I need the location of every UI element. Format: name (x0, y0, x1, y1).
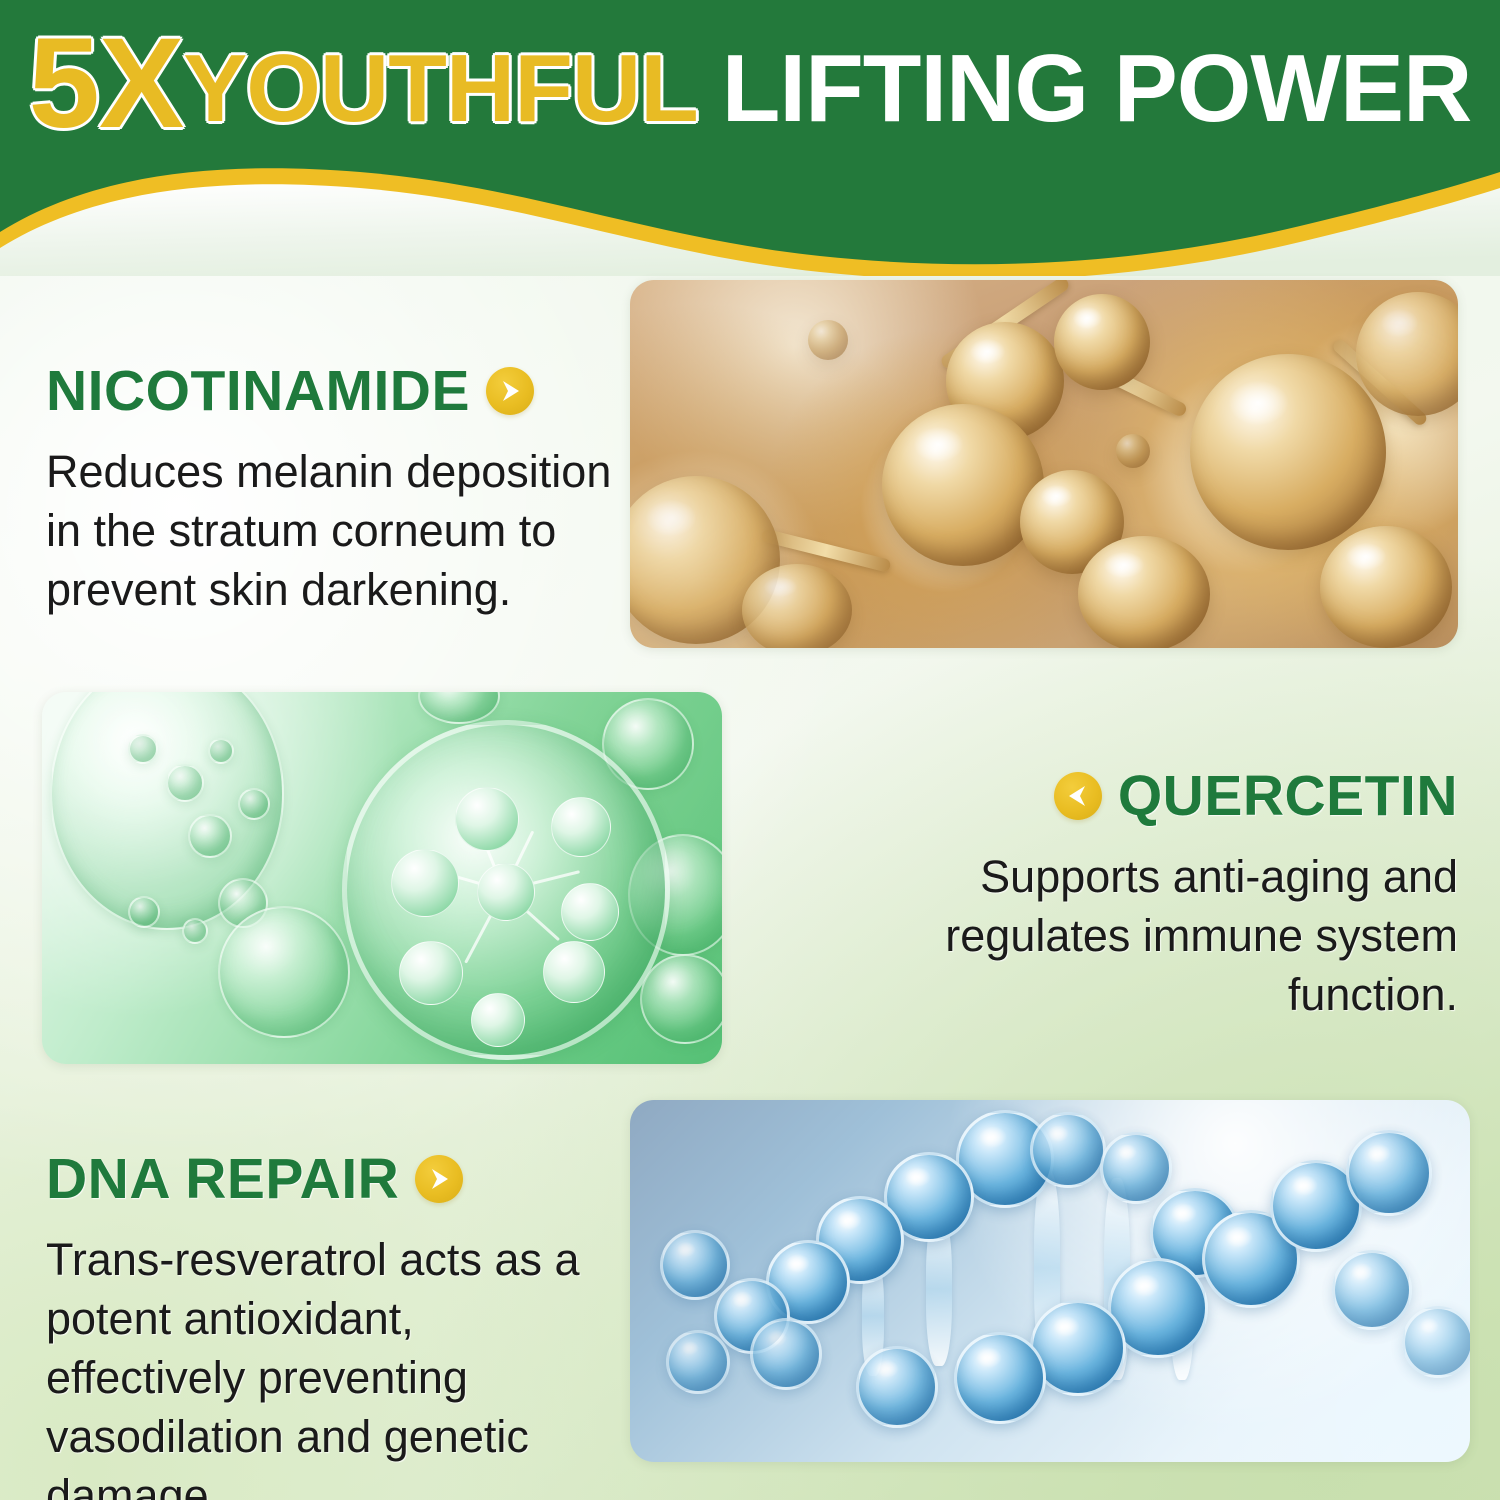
section-body: Trans-resveratrol acts as a potent antio… (46, 1230, 606, 1500)
bubble (182, 918, 208, 944)
headline-gold-word: YOUTHFUL (183, 35, 696, 142)
headline-multiplier: 5X (29, 12, 184, 155)
bubble (238, 788, 270, 820)
molecule-sphere (808, 320, 848, 360)
section-title: QUERCETIN (1118, 765, 1458, 827)
bubble (128, 896, 160, 928)
dna-bead (750, 1318, 822, 1390)
molecule-node (399, 941, 463, 1005)
molecule-sphere (882, 404, 1044, 566)
molecule-node (561, 883, 619, 941)
molecule-sphere (1356, 292, 1458, 416)
section-dna-repair: DNA REPAIR Trans-resveratrol acts as a p… (46, 1148, 606, 1500)
dna-helix-image (630, 1100, 1470, 1462)
molecule-node (455, 787, 519, 851)
section-title: DNA REPAIR (46, 1148, 399, 1210)
header-banner: 5XYOUTHFUL LIFTING POWER (0, 0, 1500, 276)
section-heading-row: NICOTINAMIDE (46, 360, 618, 422)
dna-bead (1332, 1250, 1412, 1330)
dna-bead (856, 1346, 938, 1428)
bubble (188, 814, 232, 858)
central-molecule-bubble (342, 720, 670, 1060)
section-nicotinamide: NICOTINAMIDE Reduces melanin deposition … (46, 360, 618, 619)
molecule-sphere (1078, 536, 1210, 648)
product-feature-poster: 5XYOUTHFUL LIFTING POWER (0, 0, 1500, 1500)
dna-bead (1030, 1112, 1106, 1188)
dna-bead (1402, 1306, 1470, 1378)
bubble (640, 954, 722, 1044)
golden-molecule-image (630, 280, 1458, 648)
headline-white-words: LIFTING POWER (722, 35, 1472, 142)
molecule-sphere (1190, 354, 1386, 550)
molecule-node (477, 863, 535, 921)
bubble (208, 738, 234, 764)
section-body: Supports anti-aging and regulates immune… (898, 847, 1458, 1024)
bubble (418, 692, 500, 724)
bubble (166, 764, 204, 802)
molecule-sphere (1054, 294, 1150, 390)
molecule-sphere (1116, 434, 1150, 468)
dna-bead (666, 1330, 730, 1394)
section-title: NICOTINAMIDE (46, 360, 470, 422)
molecule-node (551, 797, 611, 857)
molecule-node (471, 993, 525, 1047)
bubble (128, 734, 158, 764)
molecule-node (543, 941, 605, 1003)
page-title: 5XYOUTHFUL LIFTING POWER (0, 28, 1500, 145)
chevron-right-circle-icon[interactable] (415, 1155, 463, 1203)
dna-bead (954, 1332, 1046, 1424)
section-quercetin: QUERCETIN Supports anti-aging and regula… (898, 765, 1458, 1024)
dna-bead (660, 1230, 730, 1300)
section-heading-row: QUERCETIN (898, 765, 1458, 827)
molecule-sphere (742, 564, 852, 648)
green-bubble-molecule-image (42, 692, 722, 1064)
chevron-left-circle-icon[interactable] (1054, 772, 1102, 820)
dna-bead (1100, 1132, 1172, 1204)
molecule-sphere (1320, 526, 1452, 648)
chevron-right-circle-icon[interactable] (486, 367, 534, 415)
molecule-node (391, 849, 459, 917)
section-heading-row: DNA REPAIR (46, 1148, 606, 1210)
dna-bead (1346, 1130, 1432, 1216)
bubble (218, 906, 350, 1038)
section-body: Reduces melanin deposition in the stratu… (46, 442, 618, 619)
